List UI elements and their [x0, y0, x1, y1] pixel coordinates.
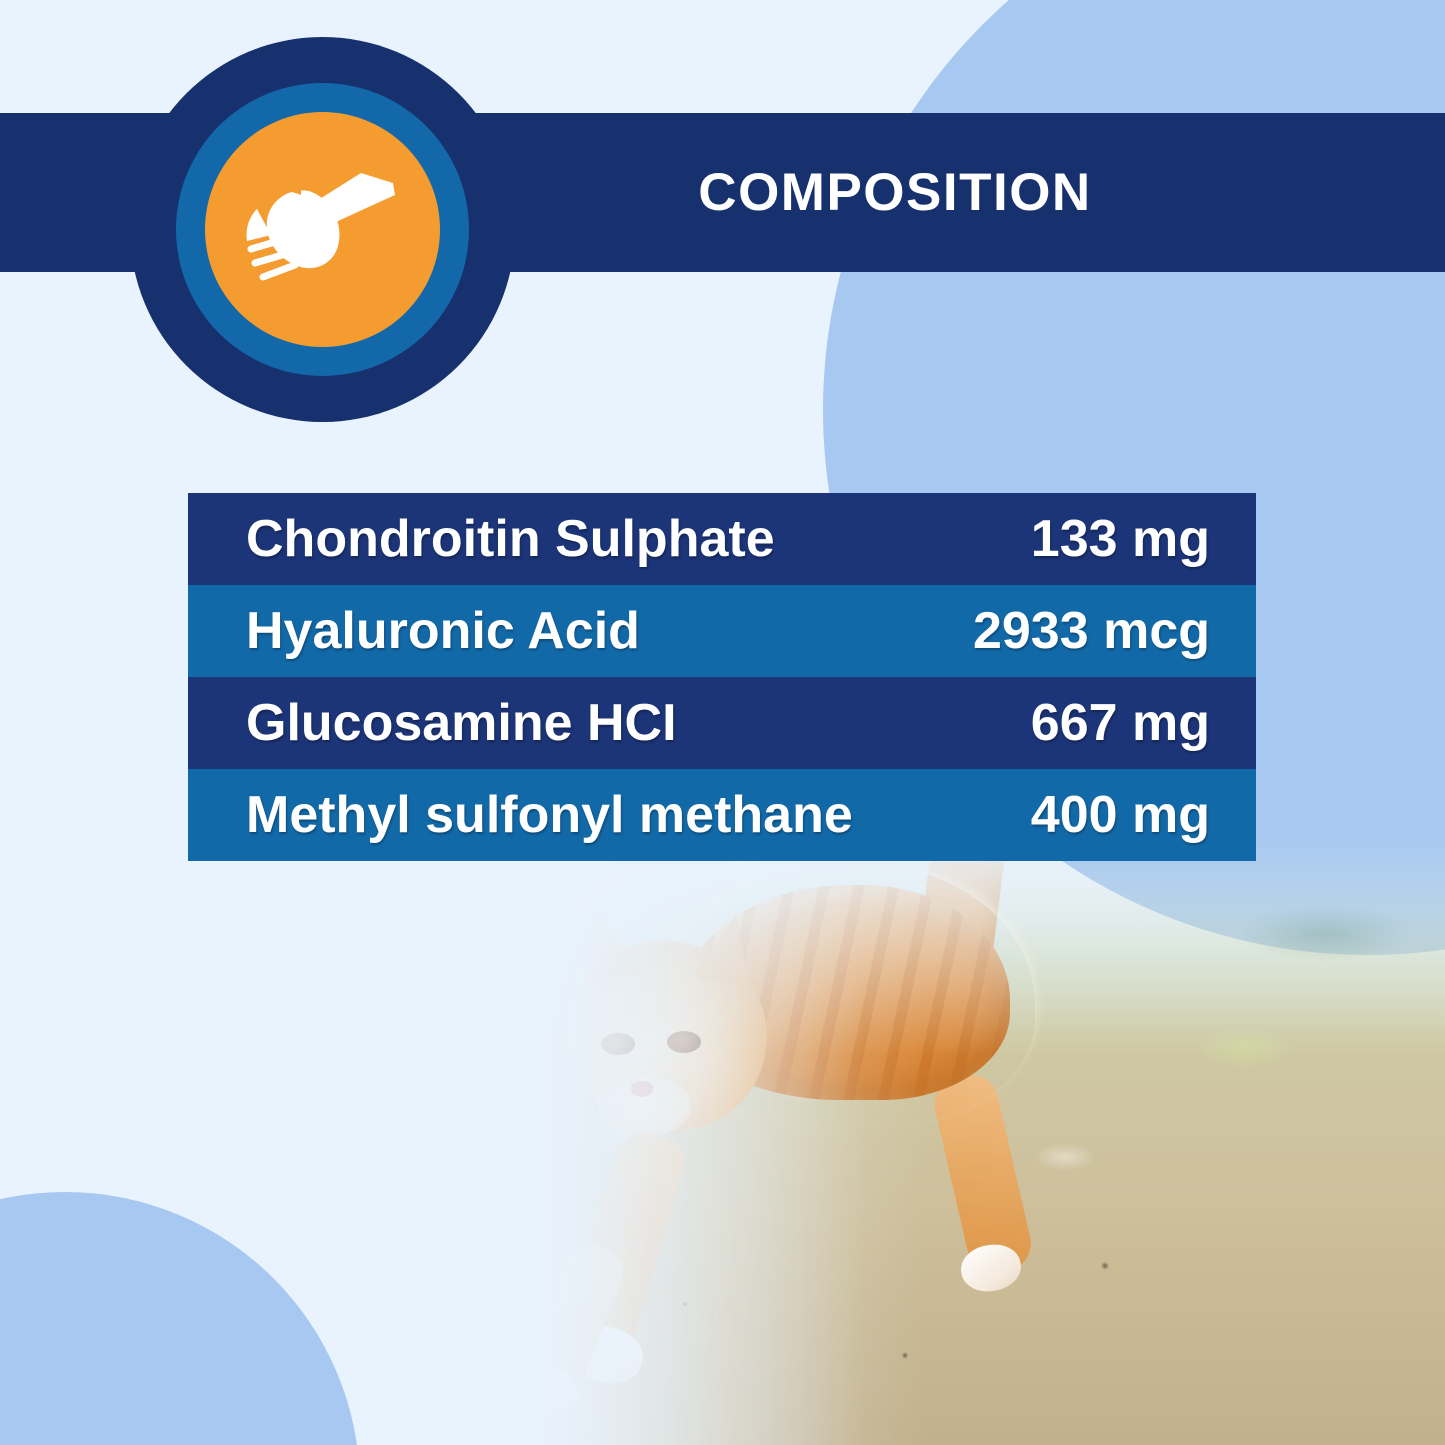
composition-table: Chondroitin Sulphate 133 mg Hyaluronic A…	[188, 493, 1256, 861]
ingredient-name: Hyaluronic Acid	[246, 601, 640, 661]
composition-infographic: COMPOSITION Chondroitin Sulphate 133 mg	[0, 0, 1445, 1445]
photo-fade-overlay	[445, 805, 1445, 1445]
table-row: Methyl sulfonyl methane 400 mg	[188, 769, 1256, 861]
ingredient-amount: 667 mg	[1017, 693, 1210, 753]
ingredient-name: Glucosamine HCI	[246, 693, 677, 753]
decorative-circle-bottom-left	[0, 1192, 360, 1445]
ingredient-name: Methyl sulfonyl methane	[246, 785, 853, 845]
ingredient-name: Chondroitin Sulphate	[246, 509, 775, 569]
badge-inner-circle	[205, 112, 440, 347]
table-row: Hyaluronic Acid 2933 mcg	[188, 585, 1256, 677]
ingredient-amount: 2933 mcg	[959, 601, 1210, 661]
cat-photo	[445, 805, 1445, 1445]
table-row: Glucosamine HCI 667 mg	[188, 677, 1256, 769]
ingredient-amount: 400 mg	[1017, 785, 1210, 845]
fork-spoon-icon	[243, 165, 403, 295]
page-title: COMPOSITION	[545, 113, 1245, 272]
ingredient-amount: 133 mg	[1017, 509, 1210, 569]
table-row: Chondroitin Sulphate 133 mg	[188, 493, 1256, 585]
